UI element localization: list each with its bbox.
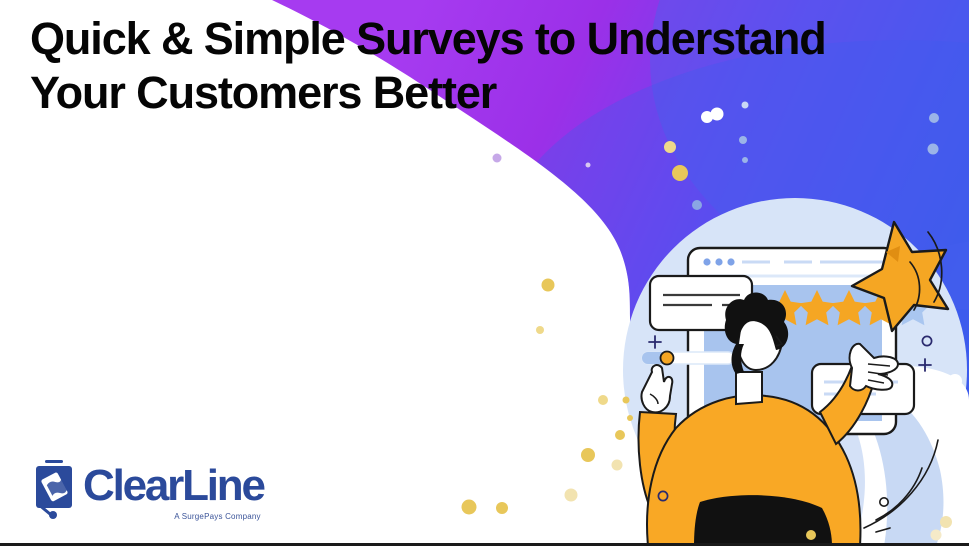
logo-tagline: A SurgePays Company [174, 512, 261, 522]
clearline-card-mark-icon [32, 458, 76, 520]
survey-promo-slide: Quick & Simple Surveys to Understand You… [0, 0, 969, 546]
page-title: Quick & Simple Surveys to Understand You… [30, 12, 950, 120]
slider-knob [661, 352, 674, 365]
browser-dots [703, 258, 734, 265]
logo-wordmark: ClearLine [83, 464, 264, 508]
rating-slider [642, 352, 734, 365]
brand-logo: ClearLine A SurgePays Company [32, 458, 264, 522]
